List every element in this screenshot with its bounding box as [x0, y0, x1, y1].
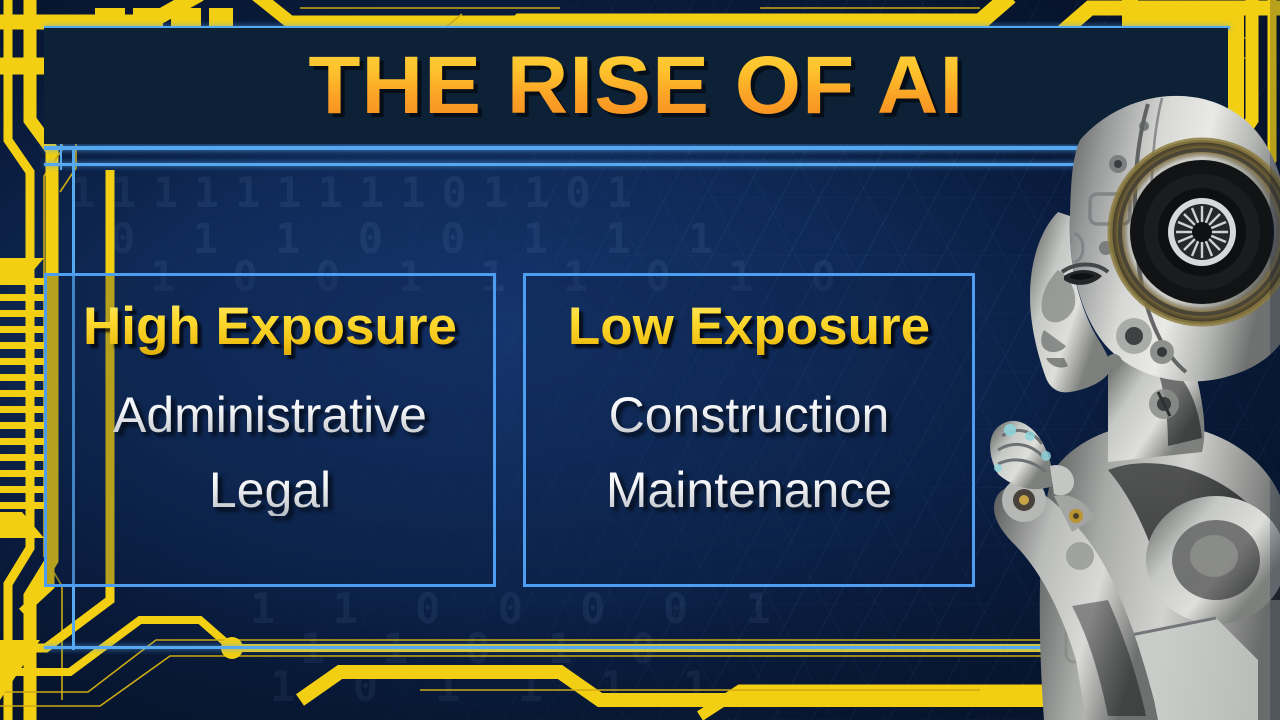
panel-low-item: Construction: [609, 389, 890, 442]
panel-low-exposure[interactable]: Low Exposure Construction Maintenance: [523, 273, 975, 587]
panel-low-heading: Low Exposure: [568, 298, 930, 355]
panel-high-item: Legal: [209, 464, 331, 517]
panel-low-item: Maintenance: [606, 464, 892, 517]
panel-high-item: Administrative: [113, 389, 427, 442]
robot-illustration: [958, 0, 1280, 720]
page-title: THE RISE OF AI: [308, 45, 964, 127]
infographic-slide: 11111111101101 0 1 1 0 0 1 1 1 1 0 0 1 1…: [0, 0, 1280, 720]
panel-high-exposure[interactable]: High Exposure Administrative Legal: [44, 273, 496, 587]
panel-high-heading: High Exposure: [83, 298, 457, 355]
blue-rail-left-outer: [60, 140, 62, 170]
